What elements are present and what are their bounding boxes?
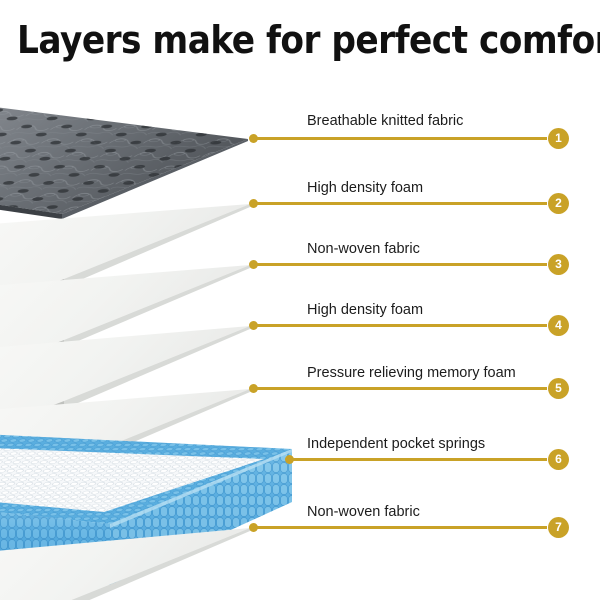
exploded-mattress-illustration xyxy=(0,0,600,600)
mattress-layers-infographic: Layers make for perfect comfort xyxy=(0,0,600,600)
layer-1-knitted-fabric xyxy=(0,100,248,219)
callout-line-7 xyxy=(253,526,547,529)
callout-badge-6[interactable]: 6 xyxy=(548,449,569,470)
callout-badge-5[interactable]: 5 xyxy=(548,378,569,399)
callout-badge-1[interactable]: 1 xyxy=(548,128,569,149)
callout-line-4 xyxy=(253,324,547,327)
callout-label-5: Pressure relieving memory foam xyxy=(307,365,516,381)
callout-label-4: High density foam xyxy=(307,302,423,318)
callout-label-1: Breathable knitted fabric xyxy=(307,113,463,129)
callout-badge-7[interactable]: 7 xyxy=(548,517,569,538)
callout-line-6 xyxy=(289,458,547,461)
callout-label-7: Non-woven fabric xyxy=(307,504,420,520)
callout-label-6: Independent pocket springs xyxy=(307,436,485,452)
callout-badge-4[interactable]: 4 xyxy=(548,315,569,336)
callout-label-2: High density foam xyxy=(307,180,423,196)
callout-badge-2[interactable]: 2 xyxy=(548,193,569,214)
callout-line-5 xyxy=(253,387,547,390)
callout-line-1 xyxy=(253,137,547,140)
callout-label-3: Non-woven fabric xyxy=(307,241,420,257)
callout-line-3 xyxy=(253,263,547,266)
callout-line-2 xyxy=(253,202,547,205)
callout-badge-3[interactable]: 3 xyxy=(548,254,569,275)
